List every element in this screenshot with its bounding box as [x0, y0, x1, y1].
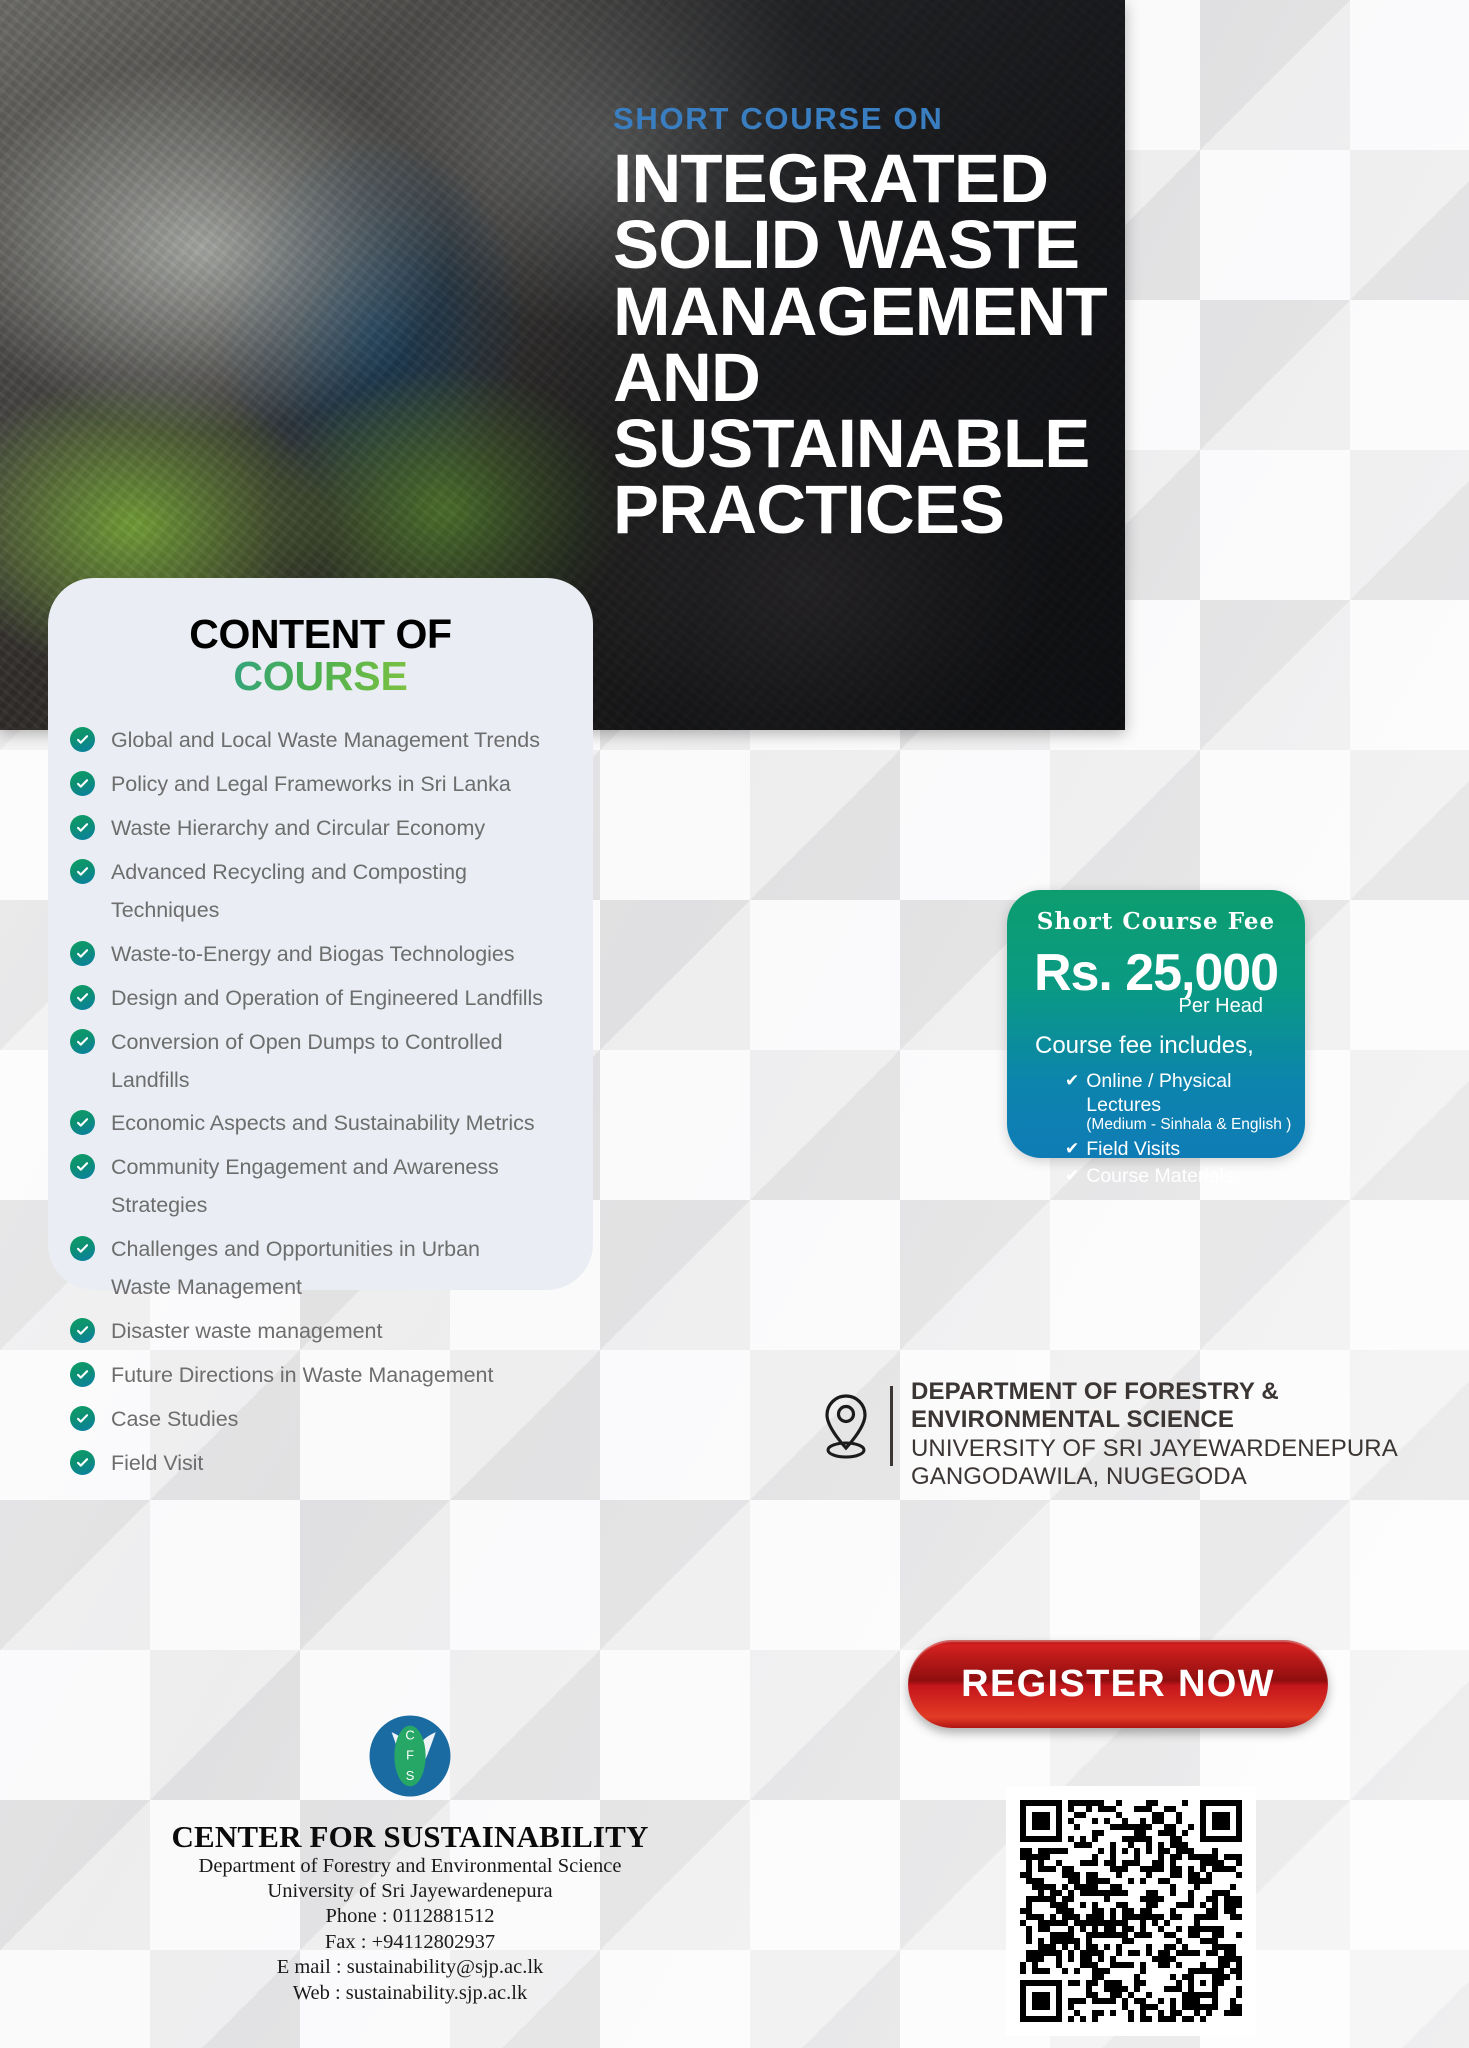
- location-pin-icon: [820, 1392, 872, 1469]
- course-list-item-label: Design and Operation of Engineered Landf…: [111, 980, 543, 1018]
- headline-line-1: INTEGRATED: [613, 146, 1113, 212]
- fee-include-item: ✔Course Materials: [1065, 1165, 1291, 1189]
- check-circle-icon: [70, 1236, 95, 1261]
- course-list-item-label: Conversion of Open Dumps to Controlled L…: [111, 1024, 541, 1100]
- course-list-item: Waste-to-Energy and Biogas Technologies: [70, 936, 575, 974]
- course-list-item: Policy and Legal Frameworks in Sri Lanka: [70, 766, 575, 804]
- department-line-3: UNIVERSITY OF SRI JAYEWARDENEPURA: [911, 1435, 1398, 1464]
- check-circle-icon: [70, 1318, 95, 1343]
- course-list-item: Waste Hierarchy and Circular Economy: [70, 810, 575, 848]
- headline-line-2: SOLID WASTE: [613, 212, 1113, 278]
- footer-contact-line: E mail : sustainability@sjp.ac.lk: [150, 1955, 670, 1980]
- course-list-item-label: Waste Hierarchy and Circular Economy: [111, 810, 485, 848]
- course-fee-box: Short Course Fee Rs. 25,000 Per Head Cou…: [1007, 890, 1305, 1158]
- course-list-item-label: Challenges and Opportunities in Urban Wa…: [111, 1231, 541, 1307]
- fee-include-text: Field Visits: [1086, 1138, 1180, 1162]
- course-list-item: Advanced Recycling and Composting Techni…: [70, 854, 575, 930]
- department-block: DEPARTMENT OF FORESTRY & ENVIRONMENTAL S…: [820, 1378, 1398, 1492]
- check-circle-icon: [70, 859, 95, 884]
- course-list-item: Conversion of Open Dumps to Controlled L…: [70, 1024, 575, 1100]
- footer-contact-line: Web : sustainability.sjp.ac.lk: [150, 1981, 670, 2006]
- course-list-item-label: Disaster waste management: [111, 1313, 382, 1351]
- fee-include-item: ✔Online / Physical Lectures(Medium - Sin…: [1065, 1070, 1291, 1135]
- course-list-item-label: Future Directions in Waste Management: [111, 1357, 493, 1395]
- title-block: SHORT COURSE ON INTEGRATED SOLID WASTE M…: [613, 102, 1113, 544]
- fee-includes-list: ✔Online / Physical Lectures(Medium - Sin…: [1065, 1070, 1291, 1189]
- svg-text:S: S: [406, 1768, 415, 1783]
- headline-line-6: PRACTICES: [613, 477, 1113, 543]
- check-circle-icon: [70, 1362, 95, 1387]
- fee-heading: Short Course Fee: [1021, 908, 1291, 935]
- fee-include-text: Online / Physical Lectures(Medium - Sinh…: [1086, 1070, 1291, 1135]
- headline-line-4: AND: [613, 345, 1113, 411]
- course-list-item-label: Global and Local Waste Management Trends: [111, 722, 540, 760]
- check-circle-icon: [70, 1110, 95, 1135]
- course-list-item: Global and Local Waste Management Trends: [70, 722, 575, 760]
- course-list-item-label: Economic Aspects and Sustainability Metr…: [111, 1105, 535, 1143]
- course-list-item: Field Visit: [70, 1445, 575, 1483]
- footer-contact-line: Phone : 0112881512: [150, 1904, 670, 1929]
- check-circle-icon: [70, 1154, 95, 1179]
- course-list-item-label: Waste-to-Energy and Biogas Technologies: [111, 936, 514, 974]
- footer-block: C F S CENTER FOR SUSTAINABILITY Departme…: [150, 1710, 670, 2006]
- check-mark-icon: ✔: [1065, 1138, 1079, 1161]
- footer-contact-line: Department of Forestry and Environmental…: [150, 1854, 670, 1879]
- department-line-2: ENVIRONMENTAL SCIENCE: [911, 1406, 1398, 1434]
- check-circle-icon: [70, 985, 95, 1010]
- fee-include-sublabel: (Medium - Sinhala & English ): [1086, 1116, 1291, 1135]
- course-list-item: Disaster waste management: [70, 1313, 575, 1351]
- course-list-item-label: Advanced Recycling and Composting Techni…: [111, 854, 575, 930]
- fee-includes-label: Course fee includes,: [1035, 1032, 1291, 1061]
- svg-text:C: C: [405, 1727, 414, 1742]
- course-list-item-label: Field Visit: [111, 1445, 203, 1483]
- course-list-item-label: Case Studies: [111, 1401, 238, 1439]
- course-list-item-label: Policy and Legal Frameworks in Sri Lanka: [111, 766, 511, 804]
- check-circle-icon: [70, 727, 95, 752]
- card-title-primary: CONTENT OF: [48, 612, 593, 656]
- check-circle-icon: [70, 1029, 95, 1054]
- department-text: DEPARTMENT OF FORESTRY & ENVIRONMENTAL S…: [911, 1378, 1398, 1492]
- footer-contact-lines: Department of Forestry and Environmental…: [150, 1854, 670, 2006]
- page-title: INTEGRATED SOLID WASTE MANAGEMENT AND SU…: [613, 146, 1113, 543]
- card-title-accent: COURSE: [48, 654, 593, 700]
- fee-amount: Rs. 25,000: [1021, 947, 1291, 999]
- headline-line-5: SUSTAINABLE: [613, 411, 1113, 477]
- cfs-logo-icon: C F S: [150, 1710, 670, 1807]
- qr-code[interactable]: [1006, 1786, 1256, 2036]
- footer-contact-line: Fax : +94112802937: [150, 1930, 670, 1955]
- check-mark-icon: ✔: [1065, 1070, 1079, 1093]
- course-list-item: Future Directions in Waste Management: [70, 1357, 575, 1395]
- fee-amount-row: Rs. 25,000 Per Head: [1021, 947, 1291, 1016]
- check-circle-icon: [70, 1406, 95, 1431]
- course-list-item: Case Studies: [70, 1401, 575, 1439]
- department-divider: [890, 1386, 893, 1466]
- content-of-course-card: CONTENT OF COURSE Global and Local Waste…: [48, 578, 593, 1290]
- course-list-item: Community Engagement and Awareness Strat…: [70, 1149, 575, 1225]
- check-circle-icon: [70, 771, 95, 796]
- check-circle-icon: [70, 941, 95, 966]
- fee-include-item: ✔Field Visits: [1065, 1138, 1291, 1162]
- department-line-4: GANGODAWILA, NUGEGODA: [911, 1463, 1398, 1492]
- svg-text:F: F: [406, 1748, 414, 1763]
- headline-line-3: MANAGEMENT: [613, 279, 1113, 345]
- check-circle-icon: [70, 815, 95, 840]
- fee-include-label: Course Materials: [1086, 1165, 1233, 1187]
- register-now-button[interactable]: REGISTER NOW: [908, 1640, 1328, 1728]
- fee-include-text: Course Materials: [1086, 1165, 1233, 1189]
- check-mark-icon: ✔: [1065, 1165, 1079, 1188]
- footer-contact-line: University of Sri Jayewardenepura: [150, 1879, 670, 1904]
- course-list-item: Design and Operation of Engineered Landf…: [70, 980, 575, 1018]
- fee-include-label: Field Visits: [1086, 1138, 1180, 1160]
- fee-include-label: Online / Physical Lectures: [1086, 1070, 1231, 1116]
- org-name: CENTER FOR SUSTAINABILITY: [150, 1821, 670, 1854]
- course-list-item-label: Community Engagement and Awareness Strat…: [111, 1149, 541, 1225]
- kicker-text: SHORT COURSE ON: [613, 102, 1113, 136]
- course-list-item: Economic Aspects and Sustainability Metr…: [70, 1105, 575, 1143]
- check-circle-icon: [70, 1450, 95, 1475]
- qr-code-canvas[interactable]: [1020, 1800, 1242, 2022]
- department-line-1: DEPARTMENT OF FORESTRY &: [911, 1378, 1398, 1406]
- course-list-item: Challenges and Opportunities in Urban Wa…: [70, 1231, 575, 1307]
- course-content-list: Global and Local Waste Management Trends…: [48, 722, 593, 1483]
